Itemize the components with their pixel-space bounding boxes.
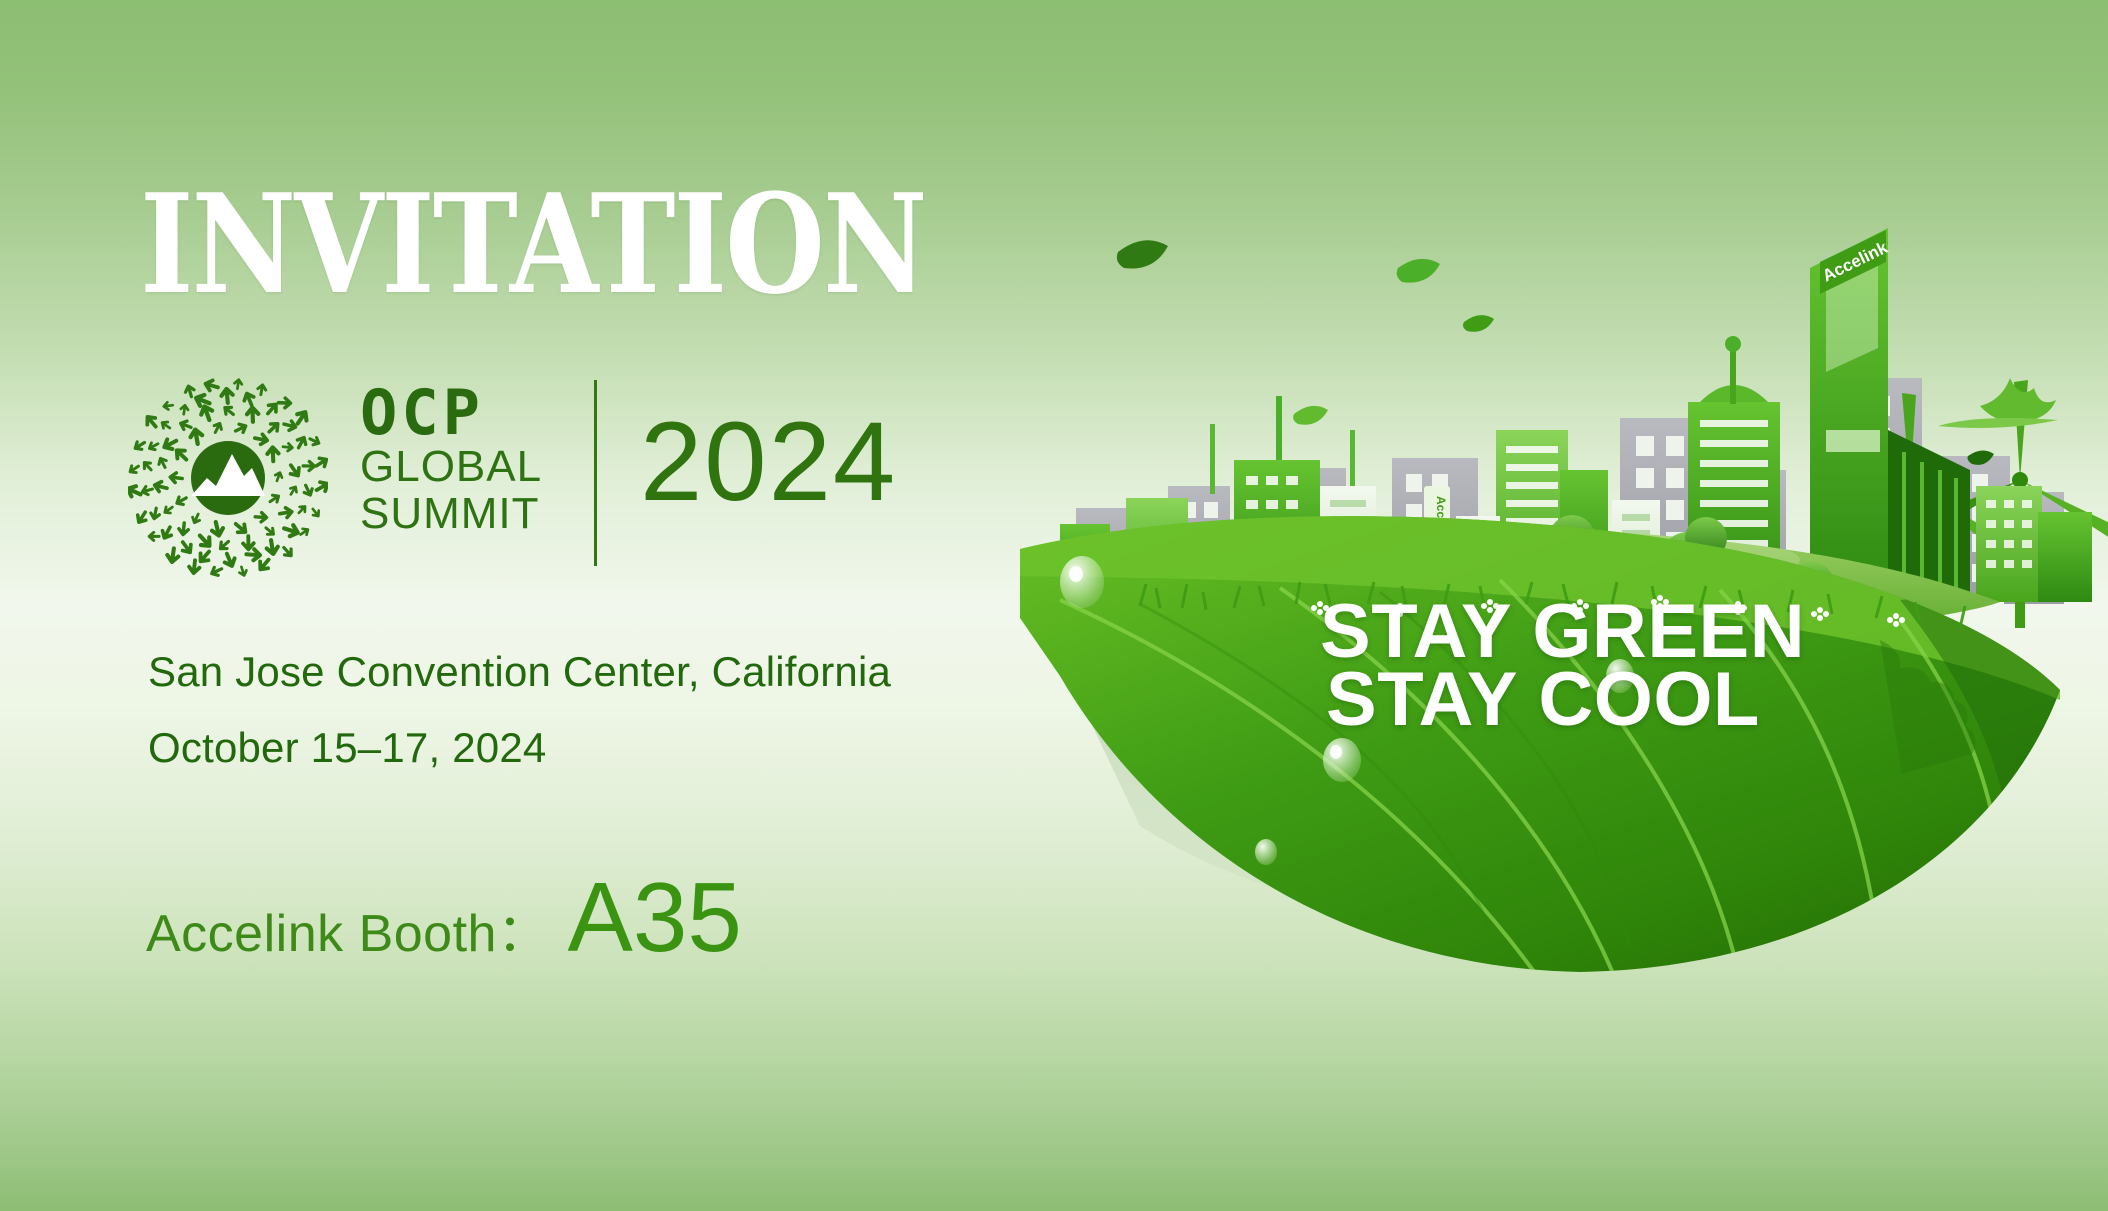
ocp-arrow-mandala-mountain-logo: [128, 378, 328, 578]
ocp-acronym: OCP: [360, 384, 570, 443]
ocp-line-global: GLOBAL: [360, 443, 570, 491]
page-title: INVITATION: [140, 176, 926, 313]
event-venue: San Jose Convention Center, California: [148, 648, 891, 696]
ocp-wordmark: OCP GLOBAL SUMMIT: [360, 384, 570, 538]
left-content-column: INVITATION OCP GLOBAL SUMMIT: [0, 0, 1000, 1211]
booth-info: Accelink Booth： A35: [146, 868, 742, 966]
booth-number: A35: [567, 868, 741, 966]
grass-tuft-floating: [1938, 378, 2058, 465]
booth-label: Accelink Booth：: [146, 891, 549, 966]
event-year: 2024: [640, 406, 897, 518]
event-dates: October 15–17, 2024: [148, 724, 546, 772]
logo-divider: [594, 380, 597, 566]
ocp-line-summit: SUMMIT: [360, 490, 570, 538]
leaf-city-illustration: Accelink: [1020, 0, 2108, 1211]
invitation-poster: INVITATION OCP GLOBAL SUMMIT: [0, 0, 2108, 1211]
